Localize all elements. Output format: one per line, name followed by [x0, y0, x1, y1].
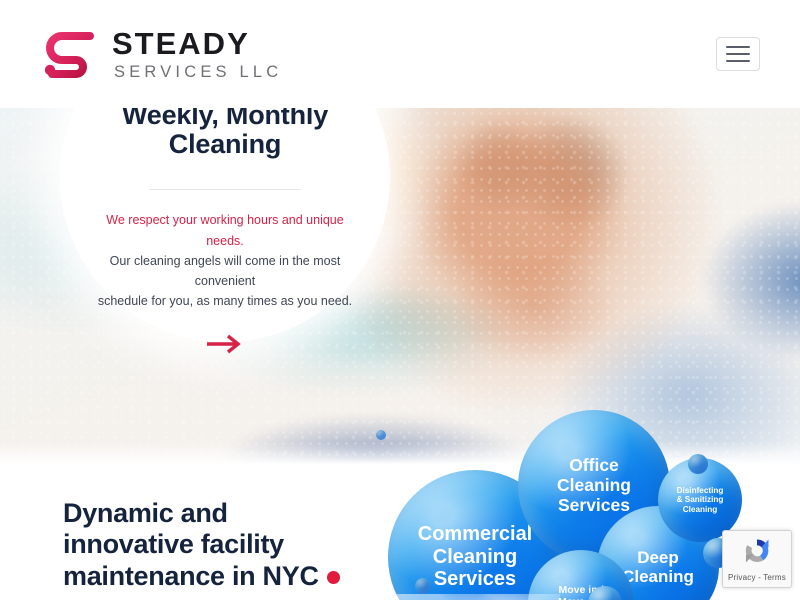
decorative-bubble-1: [688, 454, 708, 474]
facility-maintenance-copy: Dynamic and innovative facility maintena…: [63, 498, 393, 600]
recaptcha-badge[interactable]: Privacy - Terms: [722, 530, 792, 588]
brand-tagline: SERVICES LLC: [114, 64, 282, 81]
hamburger-menu-icon[interactable]: [716, 37, 760, 71]
decorative-bubble-4: [415, 578, 431, 594]
bubble-commercial-label: Commercial Cleaning Services: [418, 523, 533, 591]
section-title-line-1: Dynamic and: [63, 498, 228, 528]
bubble-disinfect-label: Disinfecting & Sanitizing Cleaning: [677, 486, 724, 514]
section-title-line-3: maintenance in NYC: [63, 561, 319, 591]
bubble-deep-label: Deep Cleaning: [622, 548, 694, 586]
hero-content-card: One-time, Weekly, Monthly Cleaning We re…: [90, 72, 360, 356]
hero-copy-line-1: Our cleaning angels will come in the mos…: [90, 251, 360, 292]
steady-s-logo-icon: [40, 29, 98, 79]
decorative-bubble-5: [376, 430, 386, 440]
brand-name: STEADY: [112, 28, 282, 59]
recaptcha-logo-icon: [742, 536, 772, 571]
hero-title-line-3: Cleaning: [169, 129, 281, 159]
menu-bar-2: [726, 53, 750, 55]
bubble-office-label: Office Cleaning Services: [557, 456, 631, 515]
hero-divider: [149, 189, 301, 190]
section-title-line-2: innovative facility: [63, 529, 284, 559]
menu-bar-3: [726, 60, 750, 62]
hero-copy-line-2: schedule for you, as many times as you n…: [90, 291, 360, 311]
accent-dot: [327, 571, 340, 584]
menu-bar-1: [726, 46, 750, 48]
arrow-right-icon[interactable]: [204, 332, 246, 356]
section-title: Dynamic and innovative facility maintena…: [63, 498, 393, 592]
site-header: STEADY SERVICES LLC: [0, 0, 800, 108]
brand-logo-link[interactable]: STEADY SERVICES LLC: [40, 28, 282, 81]
hero-lead-text: We respect your working hours and unique…: [90, 210, 360, 251]
recaptcha-privacy-terms[interactable]: Privacy - Terms: [728, 573, 786, 582]
